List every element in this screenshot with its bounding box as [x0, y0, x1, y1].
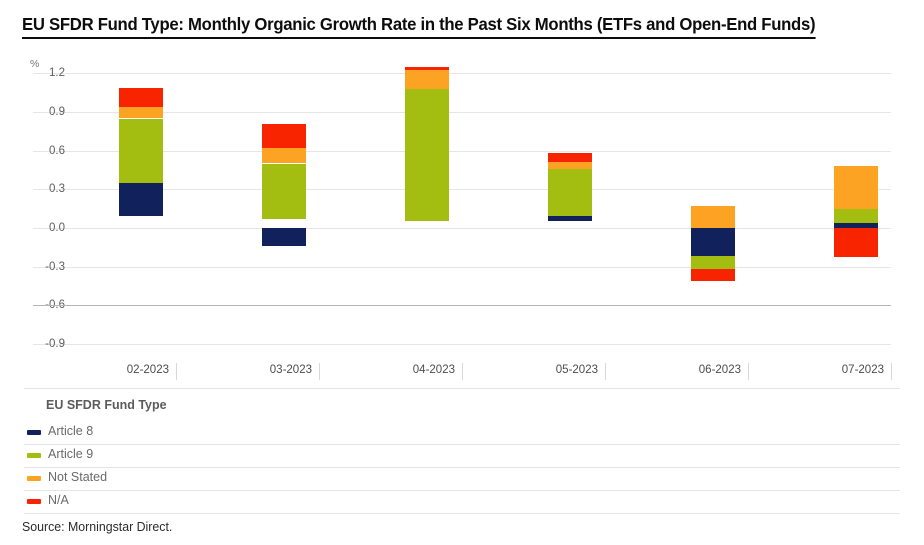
bar-segment-n-a[interactable]: [691, 269, 735, 281]
bar-group-02-2023[interactable]: [119, 58, 163, 363]
bar-segment-article-9[interactable]: [405, 89, 449, 222]
bar-segment-article-8[interactable]: [119, 183, 163, 217]
plot-area: % 1.20.90.60.30.0-0.3-0.6-0.9: [0, 58, 924, 363]
bar-segment-article-9[interactable]: [548, 169, 592, 217]
bars-layer: [33, 58, 891, 363]
bar-group-07-2023[interactable]: [834, 58, 878, 363]
bar-segment-article-8[interactable]: [262, 228, 306, 246]
bar-segment-not-stated[interactable]: [691, 206, 735, 228]
legend-item-label: Article 9: [48, 447, 93, 461]
bar-segment-article-9[interactable]: [834, 209, 878, 223]
chart-root: EU SFDR Fund Type: Monthly Organic Growt…: [0, 0, 924, 545]
x-axis-line: [33, 305, 891, 306]
x-axis-tick-separator: [176, 363, 177, 380]
legend-divider: [24, 388, 900, 389]
bar-segment-not-stated[interactable]: [405, 70, 449, 89]
x-axis-tick-separator: [891, 363, 892, 380]
legend-swatch-icon: [27, 499, 41, 504]
legend-item-label: Article 8: [48, 424, 93, 438]
bar-segment-article-8[interactable]: [691, 228, 735, 256]
bar-segment-not-stated[interactable]: [834, 166, 878, 209]
legend-item-article-9[interactable]: Article 9: [24, 444, 900, 467]
bar-segment-article-8[interactable]: [548, 216, 592, 221]
x-axis-tick-separator: [605, 363, 606, 380]
legend-item-n-a[interactable]: N/A: [24, 490, 900, 513]
x-axis-tick-label-07-2023: 07-2023: [842, 364, 891, 376]
x-axis: 02-202303-202304-202305-202306-202307-20…: [33, 363, 891, 387]
bar-segment-n-a[interactable]: [119, 88, 163, 107]
legend-item-article-8[interactable]: Article 8: [24, 421, 900, 444]
bar-segment-not-stated[interactable]: [548, 162, 592, 168]
source-note: Source: Morningstar Direct.: [22, 519, 172, 534]
legend-swatch-icon: [27, 430, 41, 435]
x-axis-tick-label-05-2023: 05-2023: [556, 364, 605, 376]
bar-group-04-2023[interactable]: [405, 58, 449, 363]
bar-segment-n-a[interactable]: [548, 153, 592, 162]
legend-item-label: Not Stated: [48, 470, 107, 484]
bar-segment-n-a[interactable]: [405, 67, 449, 70]
bar-segment-article-9[interactable]: [691, 256, 735, 269]
bar-segment-n-a[interactable]: [834, 228, 878, 258]
legend-swatch-icon: [27, 476, 41, 481]
bar-segment-not-stated[interactable]: [119, 107, 163, 119]
legend-item-label: N/A: [48, 493, 69, 507]
legend-divider: [24, 513, 900, 514]
x-axis-tick-separator: [462, 363, 463, 380]
legend-title: EU SFDR Fund Type: [46, 398, 167, 412]
page-title-text: EU SFDR Fund Type: Monthly Organic Growt…: [22, 14, 815, 39]
bar-segment-article-9[interactable]: [262, 164, 306, 219]
page-title: EU SFDR Fund Type: Monthly Organic Growt…: [22, 14, 862, 39]
bar-group-06-2023[interactable]: [691, 58, 735, 363]
x-axis-tick-label-04-2023: 04-2023: [413, 364, 462, 376]
x-axis-tick-label-03-2023: 03-2023: [270, 364, 319, 376]
x-axis-tick-label-02-2023: 02-2023: [127, 364, 176, 376]
legend-item-not-stated[interactable]: Not Stated: [24, 467, 900, 490]
x-axis-tick-separator: [748, 363, 749, 380]
bar-group-03-2023[interactable]: [262, 58, 306, 363]
bar-segment-n-a[interactable]: [262, 124, 306, 149]
bar-segment-article-9[interactable]: [119, 119, 163, 183]
x-axis-tick-separator: [319, 363, 320, 380]
x-axis-tick-label-06-2023: 06-2023: [699, 364, 748, 376]
bar-group-05-2023[interactable]: [548, 58, 592, 363]
legend-swatch-icon: [27, 453, 41, 458]
bar-segment-not-stated[interactable]: [262, 148, 306, 163]
